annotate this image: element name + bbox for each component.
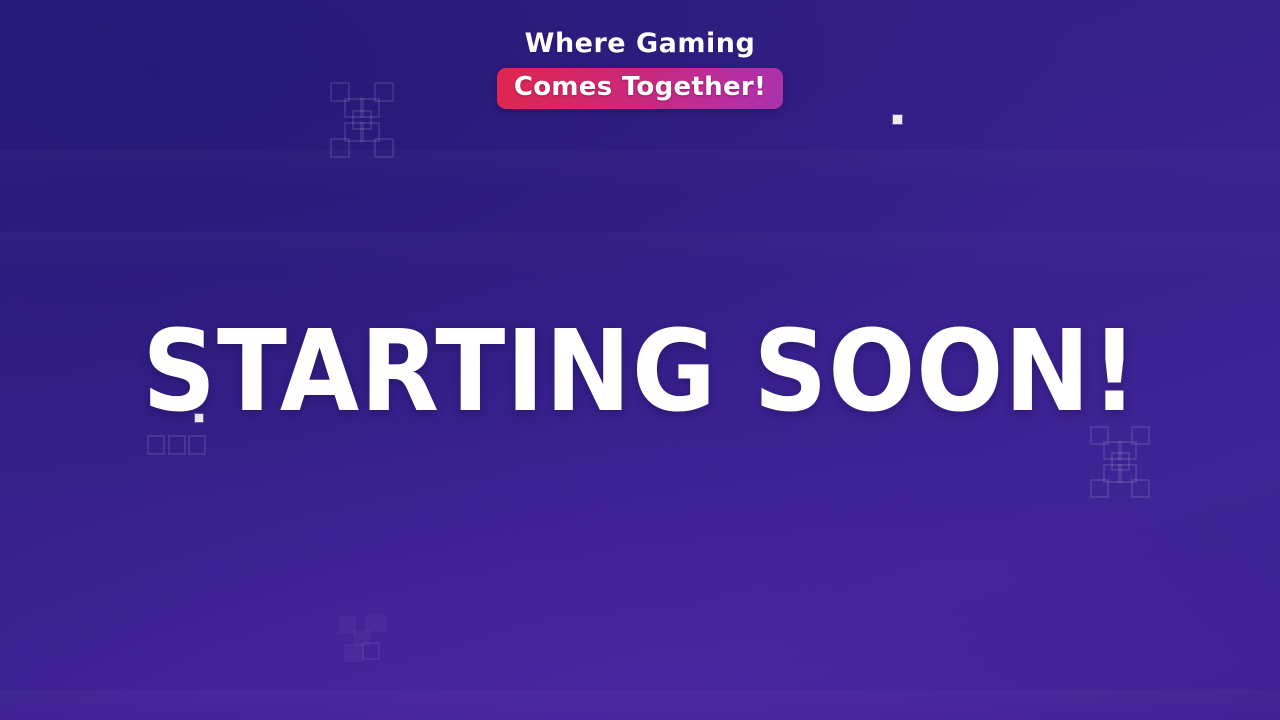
background-band-mid xyxy=(0,232,1280,274)
page-title: STARTING SOON! xyxy=(142,316,1138,428)
pixel-dot-icon xyxy=(893,115,902,124)
tagline-top: Where Gaming xyxy=(0,30,1280,57)
header: Where Gaming Comes Together! xyxy=(0,30,1280,109)
background-band-lower xyxy=(0,690,1280,720)
background-band-upper xyxy=(0,150,1280,192)
main-title-container: STARTING SOON! xyxy=(0,316,1280,428)
pixel-square-row-icon xyxy=(147,435,207,459)
pixel-x-cluster-icon xyxy=(336,608,398,670)
badge-label: Comes Together! xyxy=(514,74,766,101)
tagline-badge: Comes Together! xyxy=(497,68,783,109)
starting-soon-screen: Where Gaming Comes Together! STARTING SO… xyxy=(0,0,1280,720)
